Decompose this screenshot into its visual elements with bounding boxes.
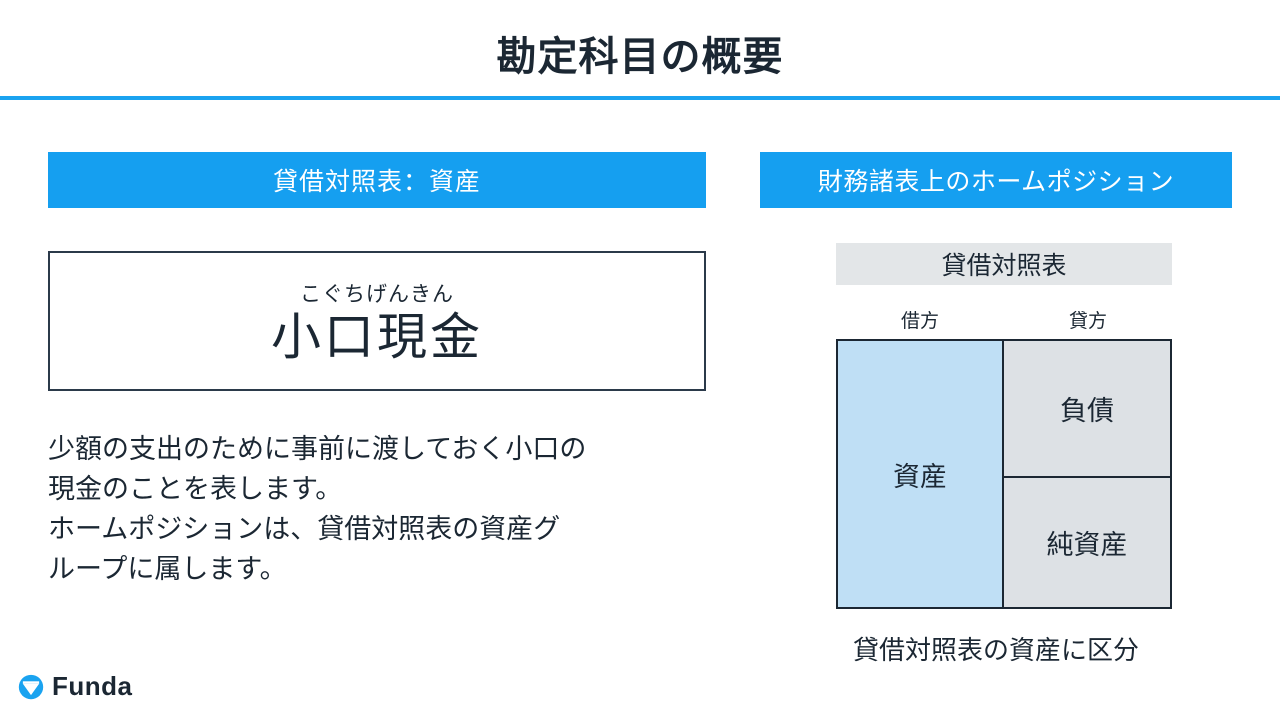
description-line-4: ループに属します。 (48, 550, 712, 590)
liabilities-cell: 負債 (1004, 341, 1170, 478)
funda-mark-icon (18, 674, 44, 700)
balance-sheet-side-labels: 借方 貸方 (836, 306, 1172, 334)
right-section-band: 財務諸表上のホームポジション (760, 152, 1232, 208)
page-title: 勘定科目の概要 (0, 24, 1280, 82)
brand-name: Funda (52, 671, 133, 702)
term-reading: こぐちげんきん (300, 278, 454, 308)
diagram-caption: 貸借対照表の資産に区分 (760, 630, 1232, 667)
balance-sheet-diagram: 資産 負債 純資産 (836, 339, 1172, 609)
term-card: こぐちげんきん 小口現金 (48, 251, 706, 391)
assets-cell: 資産 (838, 341, 1004, 607)
term-description: 少額の支出のために事前に渡しておく小口の 現金のことを表します。 ホームポジショ… (48, 430, 712, 590)
left-section-band: 貸借対照表：資産 (48, 152, 706, 208)
brand-logo: Funda (18, 671, 133, 702)
description-line-3: ホームポジションは、貸借対照表の資産グ (48, 510, 712, 550)
term-name: 小口現金 (271, 310, 483, 365)
balance-sheet-title: 貸借対照表 (836, 243, 1172, 285)
description-line-1: 少額の支出のために事前に渡しておく小口の (48, 430, 712, 470)
equity-cell: 純資産 (1004, 478, 1170, 607)
credit-side: 負債 純資産 (1004, 341, 1170, 607)
credit-label: 貸方 (1004, 306, 1172, 333)
description-line-2: 現金のことを表します。 (48, 470, 712, 510)
debit-label: 借方 (836, 306, 1004, 333)
title-divider (0, 96, 1280, 100)
